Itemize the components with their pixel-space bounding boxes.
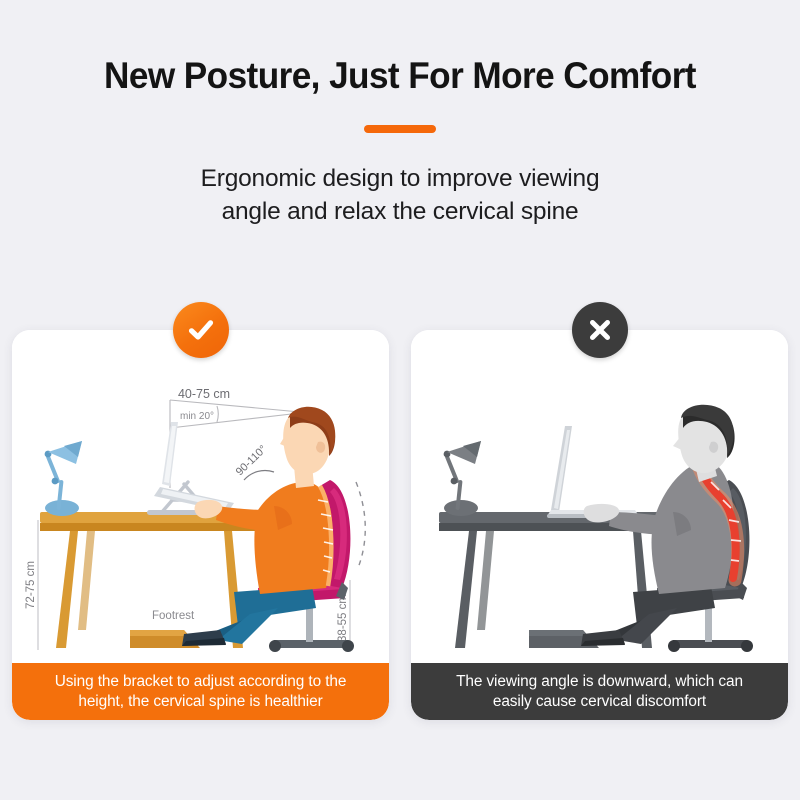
- bad-posture-card: The viewing angle is downward, which can…: [411, 330, 788, 720]
- subtitle-line-2: angle and relax the cervical spine: [120, 195, 680, 229]
- subtitle: Ergonomic design to improve viewing angl…: [120, 162, 680, 230]
- label-viewing-distance: 40-75 cm: [178, 387, 230, 401]
- bad-caption-line-1: The viewing angle is downward, which can: [456, 672, 743, 692]
- subtitle-line-1: Ergonomic design to improve viewing: [120, 162, 680, 196]
- good-caption: Using the bracket to adjust according to…: [12, 663, 389, 720]
- label-seat-height: 38-55 cm: [337, 594, 349, 642]
- header: New Posture, Just For More Comfort Ergon…: [0, 0, 800, 229]
- accent-divider: [364, 125, 436, 133]
- bad-caption-line-2: easily cause cervical discomfort: [456, 692, 743, 712]
- good-card-body: 40-75 cm min 20° 72-75 cm 38-55 cm: [12, 330, 389, 720]
- label-viewing-angle: min 20°: [180, 411, 214, 422]
- label-footrest: Footrest: [152, 610, 195, 622]
- cross-icon: [572, 302, 628, 358]
- good-posture-card: 40-75 cm min 20° 72-75 cm 38-55 cm: [12, 330, 389, 720]
- bad-card-body: The viewing angle is downward, which can…: [411, 330, 788, 720]
- good-caption-line-2: height, the cervical spine is healthier: [55, 692, 347, 712]
- bad-posture-illustration: [411, 330, 788, 665]
- bad-caption: The viewing angle is downward, which can…: [411, 663, 788, 720]
- good-caption-line-1: Using the bracket to adjust according to…: [55, 672, 347, 692]
- page-title: New Posture, Just For More Comfort: [20, 56, 780, 97]
- comparison-cards: 40-75 cm min 20° 72-75 cm 38-55 cm: [0, 330, 800, 730]
- label-desk-height: 72-75 cm: [25, 561, 37, 609]
- good-posture-illustration: 40-75 cm min 20° 72-75 cm 38-55 cm: [12, 330, 389, 665]
- check-icon: [173, 302, 229, 358]
- infographic-page: New Posture, Just For More Comfort Ergon…: [0, 0, 800, 800]
